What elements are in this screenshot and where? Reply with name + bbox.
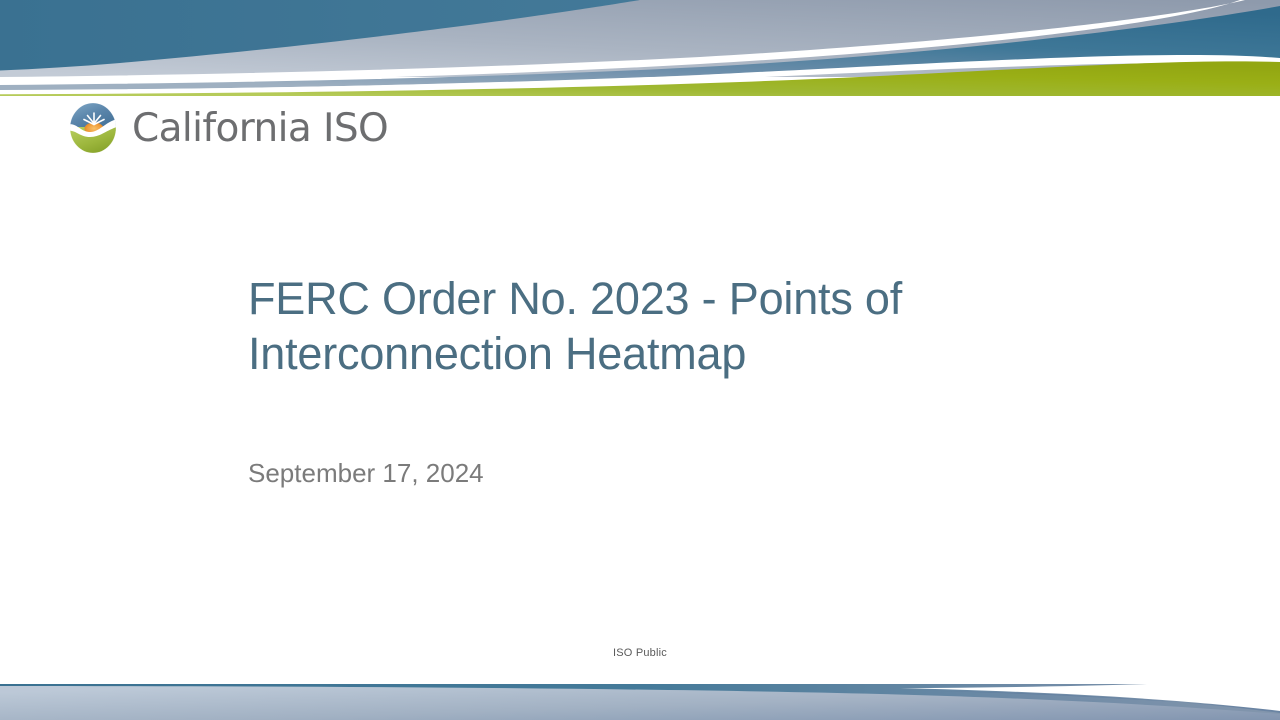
caiso-wordmark: California ISO bbox=[132, 109, 388, 148]
top-banner-decoration bbox=[0, 0, 1280, 96]
slide-date: September 17, 2024 bbox=[248, 458, 484, 489]
presentation-slide: California ISO FERC Order No. 2023 - Poi… bbox=[0, 0, 1280, 720]
page-title-line-2: Interconnection Heatmap bbox=[248, 328, 746, 379]
caiso-globe-icon bbox=[68, 101, 118, 155]
bottom-banner-decoration bbox=[0, 680, 1280, 720]
page-title-line-1: FERC Order No. 2023 - Points of bbox=[248, 273, 902, 324]
title-block: FERC Order No. 2023 - Points of Intercon… bbox=[248, 272, 1078, 382]
classification-footer: ISO Public bbox=[0, 647, 1280, 659]
bottom-banner-swoosh-graphic bbox=[0, 680, 1280, 720]
caiso-logo: California ISO bbox=[68, 98, 388, 158]
top-banner-swoosh-graphic bbox=[0, 0, 1280, 96]
page-title: FERC Order No. 2023 - Points of Intercon… bbox=[248, 272, 1078, 382]
